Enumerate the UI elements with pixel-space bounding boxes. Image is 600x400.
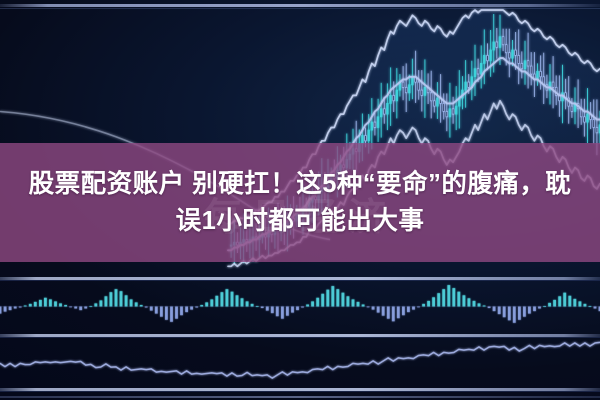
top-divider-shadow [0,8,600,9]
panel-divider-lower [0,334,600,337]
panel-divider-bottom [0,388,600,391]
panel-divider-upper [0,277,600,280]
headline-line-2: 误1小时都可能出大事 [176,206,425,236]
headline-line-1: 股票配资账户 别硬扛！这5种“要命”的腹痛，耽 [29,169,572,199]
top-divider-line [0,4,600,7]
bottom-edge-line [0,396,600,398]
screenshot-canvas: 每日经济 股票配资账户 别硬扛！这5种“要命”的腹痛，耽 误1小时都可能出大事 [0,0,600,400]
headline-block: 股票配资账户 别硬扛！这5种“要命”的腹痛，耽 误1小时都可能出大事 [0,143,600,262]
